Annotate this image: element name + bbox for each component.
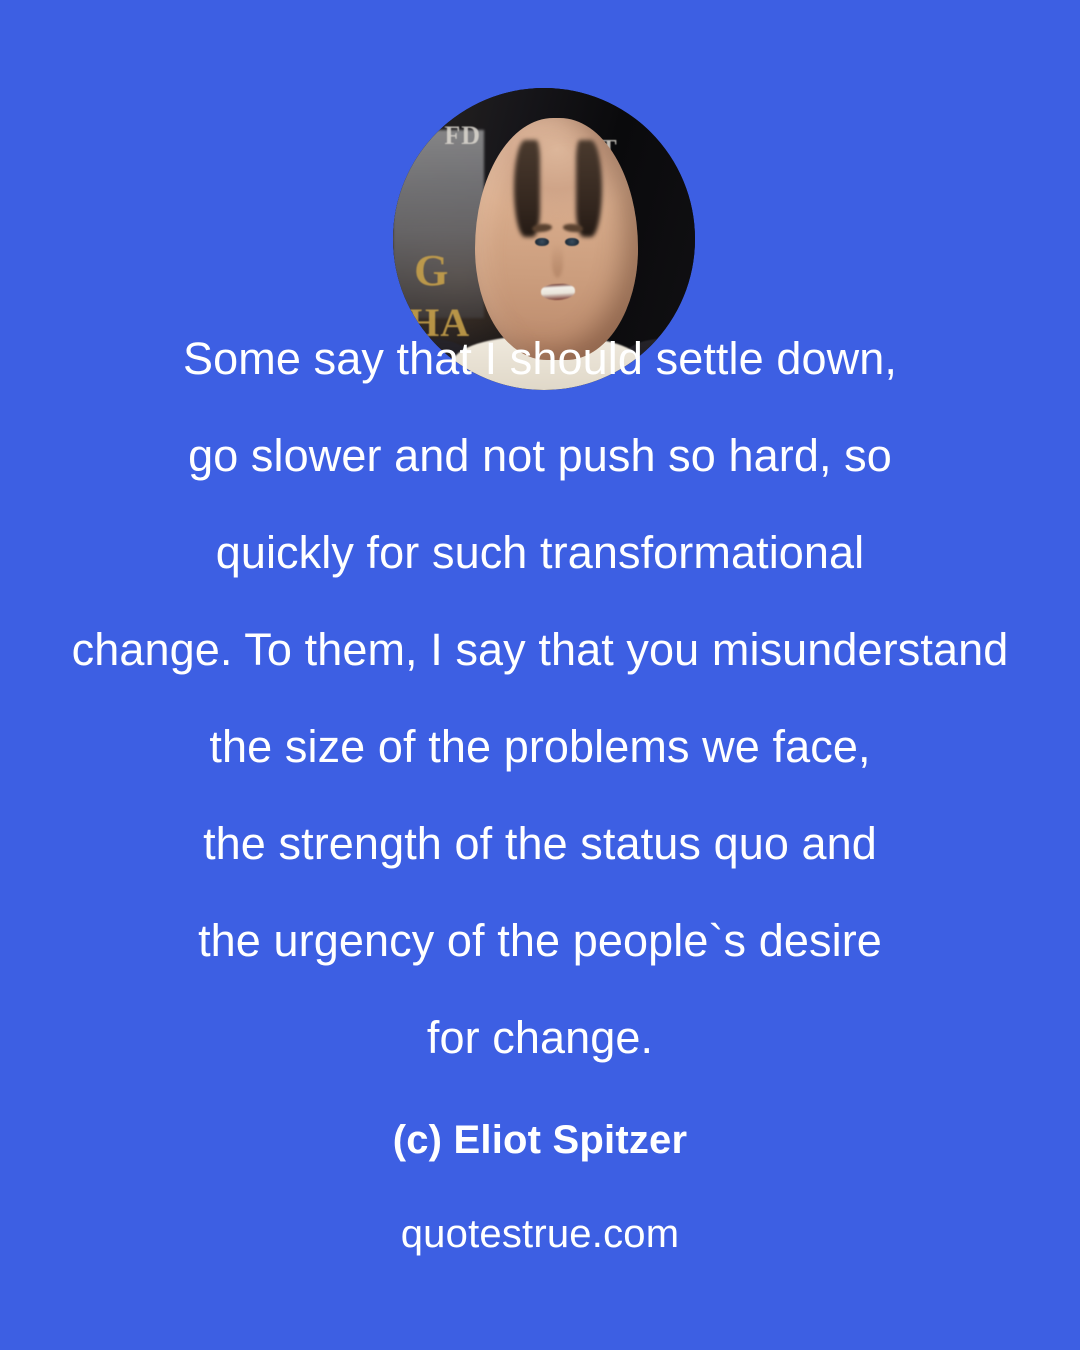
eye-left — [535, 238, 549, 247]
nose — [552, 244, 563, 278]
eye-right — [565, 238, 579, 247]
banner-text-fragment: G — [414, 245, 449, 296]
quote-line: quickly for such transformational — [0, 504, 1080, 601]
quote-attribution: (c) Eliot Spitzer — [0, 1118, 1080, 1163]
mouth-smile — [541, 283, 576, 300]
quote-line: the strength of the status quo and — [0, 795, 1080, 892]
quote-line: change. To them, I say that you misunder… — [0, 601, 1080, 698]
quote-card: FD ST G HA Some say that I should settle… — [0, 0, 1080, 1350]
quote-line: for change. — [0, 989, 1080, 1086]
quote-text: Some say that I should settle down, go s… — [0, 310, 1080, 1086]
quote-line: the urgency of the people`s desire — [0, 892, 1080, 989]
banner-text-fragment: FD — [444, 121, 481, 151]
hair-right — [576, 140, 602, 237]
site-watermark: quotestrue.com — [0, 1212, 1080, 1257]
hair-left — [514, 140, 540, 237]
quote-line: the size of the problems we face, — [0, 698, 1080, 795]
eyebrow-right — [562, 224, 582, 233]
quote-line: Some say that I should settle down, — [0, 310, 1080, 407]
quote-line: go slower and not push so hard, so — [0, 407, 1080, 504]
